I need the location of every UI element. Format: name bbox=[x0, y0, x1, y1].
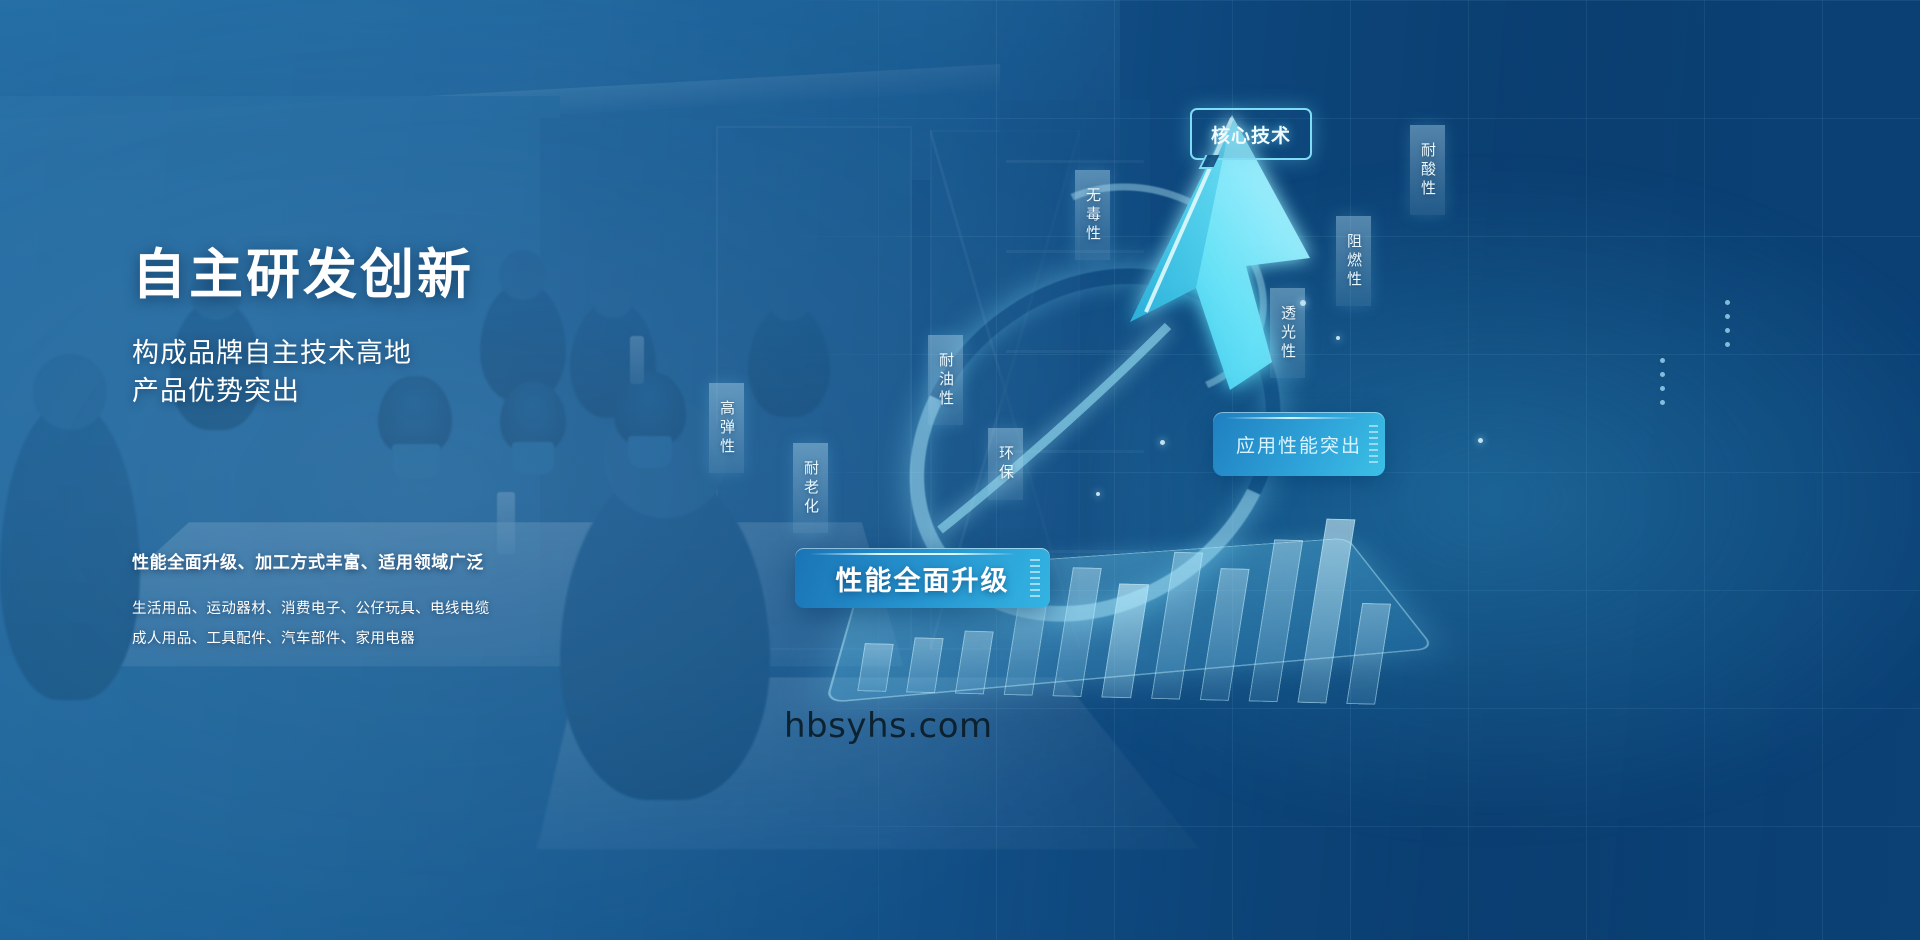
property-tag[interactable]: 阻燃性 bbox=[1336, 216, 1371, 306]
property-tag[interactable]: 环保 bbox=[988, 428, 1023, 500]
property-tag[interactable]: 透光性 bbox=[1270, 288, 1305, 378]
hero-banner: 自主研发创新 构成品牌自主技术高地 产品优势突出 性能全面升级、加工方式丰富、适… bbox=[0, 0, 1920, 940]
bar bbox=[1346, 603, 1391, 705]
spark bbox=[1160, 440, 1165, 445]
subtitle-line-2: 产品优势突出 bbox=[132, 372, 474, 410]
property-tag[interactable]: 无毒性 bbox=[1075, 170, 1110, 260]
subtitle: 构成品牌自主技术高地 产品优势突出 bbox=[132, 334, 474, 411]
copy-block: 自主研发创新 构成品牌自主技术高地 产品优势突出 bbox=[132, 248, 474, 411]
spark bbox=[1096, 492, 1100, 496]
feature-headline: 性能全面升级、加工方式丰富、适用领域广泛 bbox=[132, 548, 490, 573]
page-title: 自主研发创新 bbox=[132, 248, 474, 302]
feature-detail: 生活用品、运动器材、消费电子、公仔玩具、电线电缆 成人用品、工具配件、汽车部件、… bbox=[132, 595, 490, 654]
bar bbox=[857, 643, 894, 692]
dot-column bbox=[1725, 300, 1730, 347]
core-technology-callout[interactable]: 核心技术 bbox=[1190, 108, 1312, 160]
feature-line-2: 成人用品、工具配件、汽车部件、家用电器 bbox=[132, 625, 490, 655]
feature-line-1: 生活用品、运动器材、消费电子、公仔玩具、电线电缆 bbox=[132, 595, 490, 625]
bar bbox=[955, 631, 994, 694]
spark bbox=[1336, 336, 1340, 340]
property-tag[interactable]: 耐油性 bbox=[928, 335, 963, 425]
bar bbox=[906, 637, 944, 693]
watermark: hbsyhs.com bbox=[784, 706, 993, 746]
dot-column bbox=[1660, 358, 1665, 405]
property-tag[interactable]: 耐老化 bbox=[793, 443, 828, 533]
feature-block: 性能全面升级、加工方式丰富、适用领域广泛 生活用品、运动器材、消费电子、公仔玩具… bbox=[132, 548, 490, 654]
application-performance-button[interactable]: 应用性能突出 bbox=[1213, 412, 1385, 476]
subtitle-line-1: 构成品牌自主技术高地 bbox=[132, 334, 474, 372]
spark bbox=[1478, 438, 1483, 443]
property-tag[interactable]: 高弹性 bbox=[709, 383, 744, 473]
performance-upgrade-banner[interactable]: 性能全面升级 bbox=[795, 548, 1050, 608]
property-tag[interactable]: 耐酸性 bbox=[1410, 125, 1445, 215]
